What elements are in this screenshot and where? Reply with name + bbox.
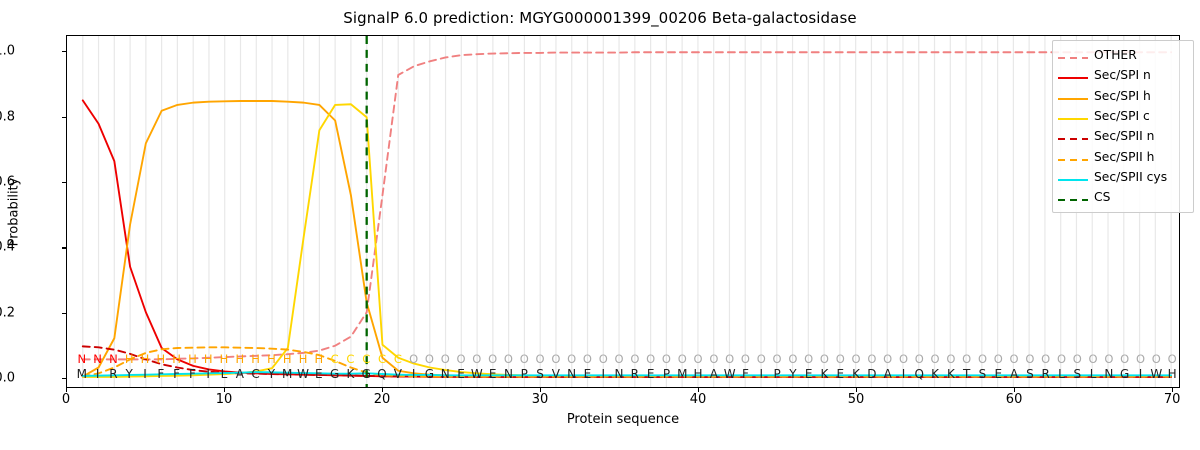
legend-swatch <box>1058 171 1088 183</box>
region-label: O <box>1163 352 1181 366</box>
legend-label: Sec/SPI n <box>1094 68 1151 82</box>
x-tick-mark <box>66 388 67 392</box>
x-tick-mark <box>224 388 225 392</box>
residue-letter: H <box>1163 367 1181 381</box>
x-tick-mark <box>1014 388 1015 392</box>
x-tick-label: 10 <box>194 392 254 407</box>
legend-label: Sec/SPII n <box>1094 129 1154 143</box>
plot-area <box>66 35 1180 388</box>
x-tick-mark <box>856 388 857 392</box>
y-tick-label: 0.4 <box>0 240 15 255</box>
x-axis-label: Protein sequence <box>66 412 1180 427</box>
y-tick-label: 1.0 <box>0 44 15 59</box>
legend-label: Sec/SPI h <box>1094 89 1151 103</box>
series-line-sec-spi-c <box>83 104 1171 377</box>
legend-item[interactable]: OTHER <box>1058 45 1188 65</box>
legend-item[interactable]: CS <box>1058 187 1188 207</box>
x-tick-label: 70 <box>1142 392 1200 407</box>
y-tick-label: 0.0 <box>0 371 15 386</box>
legend-swatch <box>1058 90 1088 102</box>
legend-swatch <box>1058 110 1088 122</box>
legend-item[interactable]: Sec/SPII h <box>1058 146 1188 166</box>
x-tick-mark <box>540 388 541 392</box>
legend-swatch <box>1058 49 1088 61</box>
series-line-sec-spi-h <box>83 101 1171 377</box>
signalp-prediction-figure: SignalP 6.0 prediction: MGYG000001399_00… <box>0 0 1200 450</box>
legend[interactable]: OTHERSec/SPI nSec/SPI hSec/SPI cSec/SPII… <box>1052 40 1194 213</box>
x-tick-mark <box>698 388 699 392</box>
y-tick-label: 0.6 <box>0 175 15 190</box>
x-tick-label: 20 <box>352 392 412 407</box>
legend-label: Sec/SPII cys <box>1094 170 1167 184</box>
series-line-other <box>83 52 1171 359</box>
x-tick-label: 40 <box>668 392 728 407</box>
legend-item[interactable]: Sec/SPII cys <box>1058 167 1188 187</box>
legend-item[interactable]: Sec/SPI h <box>1058 86 1188 106</box>
legend-item[interactable]: Sec/SPI n <box>1058 65 1188 85</box>
plot-canvas <box>67 36 1179 387</box>
x-tick-label: 30 <box>510 392 570 407</box>
legend-swatch <box>1058 69 1088 81</box>
x-tick-mark <box>1172 388 1173 392</box>
y-tick-label: 0.8 <box>0 109 15 124</box>
chart-title: SignalP 6.0 prediction: MGYG000001399_00… <box>0 9 1200 27</box>
x-tick-label: 60 <box>984 392 1044 407</box>
legend-swatch <box>1058 151 1088 163</box>
legend-item[interactable]: Sec/SPII n <box>1058 126 1188 146</box>
x-tick-label: 0 <box>36 392 96 407</box>
series-line-sec-spi-n <box>83 100 1171 377</box>
x-tick-mark <box>382 388 383 392</box>
legend-label: CS <box>1094 190 1110 204</box>
y-tick-label: 0.2 <box>0 305 15 320</box>
legend-swatch <box>1058 191 1088 203</box>
legend-swatch <box>1058 130 1088 142</box>
legend-label: OTHER <box>1094 48 1137 62</box>
y-axis-label: Probability <box>4 35 24 388</box>
legend-label: Sec/SPI c <box>1094 109 1150 123</box>
x-tick-label: 50 <box>826 392 886 407</box>
legend-item[interactable]: Sec/SPI c <box>1058 106 1188 126</box>
legend-label: Sec/SPII h <box>1094 150 1154 164</box>
